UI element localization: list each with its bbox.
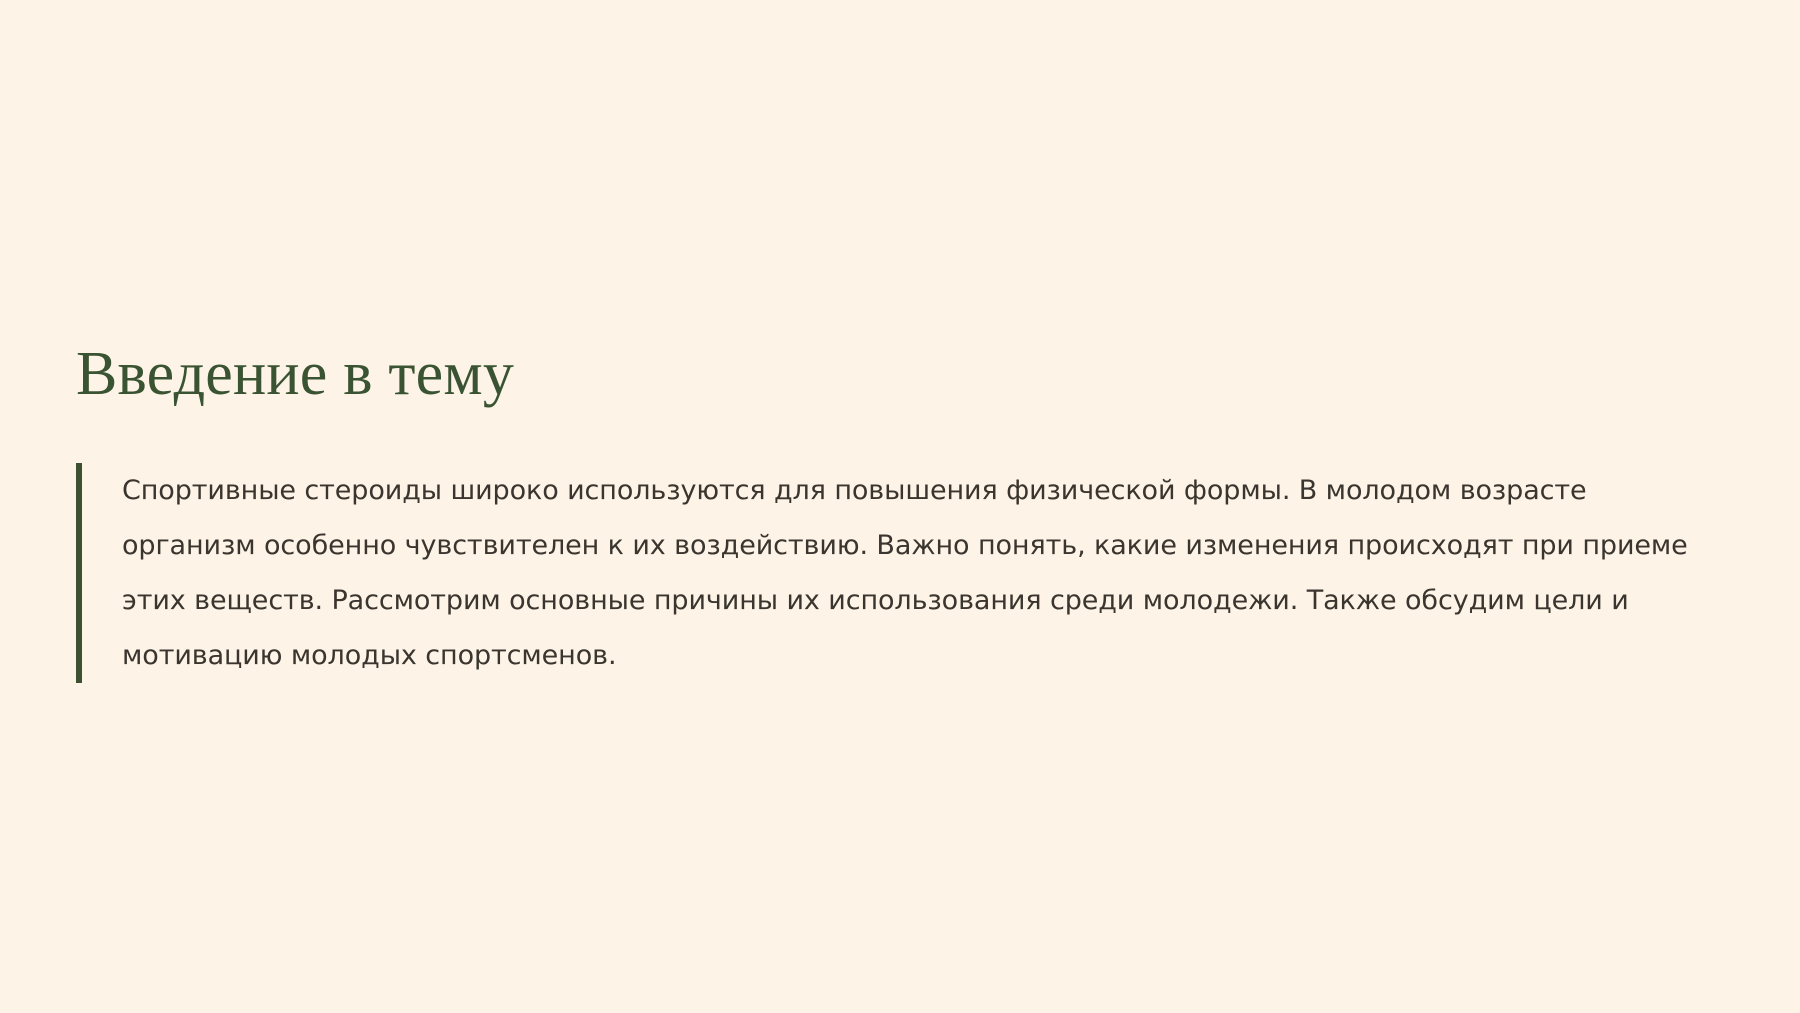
body-callout-block: Спортивные стероиды широко используются … <box>76 463 1716 683</box>
body-paragraph: Спортивные стероиды широко используются … <box>82 463 1716 683</box>
page-title: Введение в тему <box>76 340 514 408</box>
slide-canvas: Введение в тему Спортивные стероиды широ… <box>0 0 1800 1013</box>
